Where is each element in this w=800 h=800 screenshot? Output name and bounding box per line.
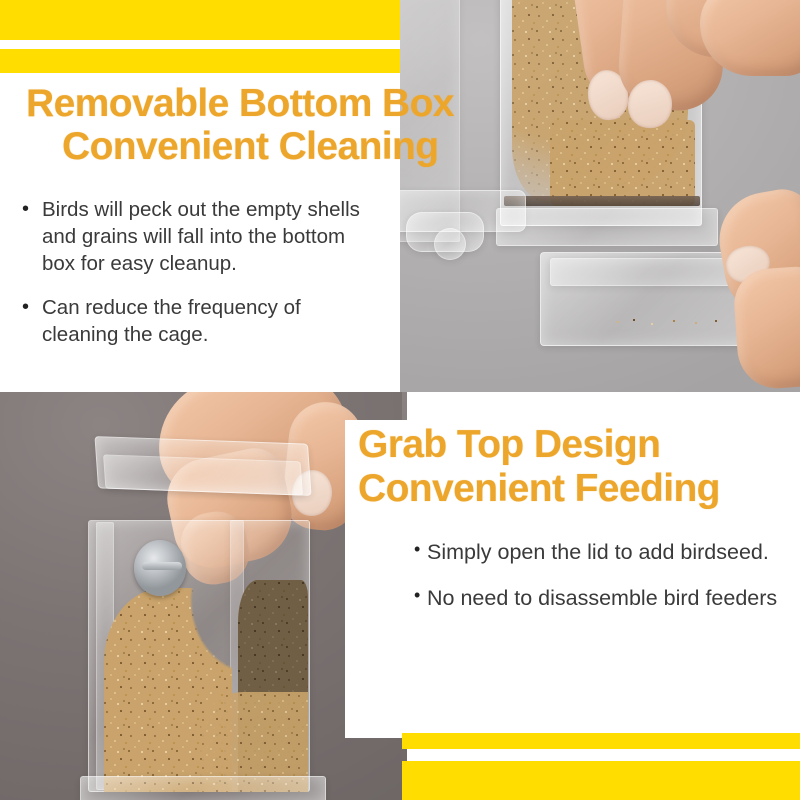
bullet-list-removable-bottom-box: • Birds will peck out the empty shells a… [22, 196, 382, 365]
headline-line-2: Convenient Feeding [358, 469, 800, 508]
list-item: • Can reduce the frequency of cleaning t… [22, 294, 382, 348]
birdseed-lower [550, 120, 695, 206]
bullet-list-grab-top-design: • Simply open the lid to add birdseed. •… [414, 538, 794, 629]
headline-line-1: Removable Bottom Box [26, 82, 454, 125]
feeder-base-tray [80, 776, 326, 800]
accent-stripe-top-thin [0, 49, 400, 73]
infographic-canvas: Removable Bottom Box Convenient Cleaning… [0, 0, 800, 800]
feeder-base-rail [504, 196, 700, 206]
feeder-shelf [496, 208, 718, 246]
list-item-text: No need to disassemble bird feeders [427, 584, 794, 613]
hand-right-palm [732, 265, 800, 391]
list-item-text: Simply open the lid to add birdseed. [427, 538, 794, 567]
product-photo-removable-bottom-box [400, 0, 800, 392]
headline-grab-top-design: Grab Top Design Convenient Feeding [358, 425, 800, 508]
loose-seeds-in-box [612, 316, 732, 330]
accent-stripe-bottom-thick [402, 761, 800, 800]
list-item: • Simply open the lid to add birdseed. [414, 538, 794, 567]
screw-shaft [142, 562, 182, 570]
headline-line-1: Grab Top Design [358, 425, 800, 464]
product-photo-grab-top-lid [0, 392, 402, 800]
bullet-dot-icon: • [22, 196, 42, 277]
accent-stripe-top-thick [0, 0, 400, 40]
bullet-dot-icon: • [414, 584, 427, 613]
list-item-text: Birds will peck out the empty shells and… [42, 196, 382, 277]
bullet-dot-icon: • [22, 294, 42, 348]
headline-line-2: Convenient Cleaning [62, 127, 546, 166]
list-item-text: Can reduce the frequency of cleaning the… [42, 294, 382, 348]
headline-removable-bottom-box: Removable Bottom Box Convenient Cleaning [26, 84, 546, 166]
feeder-lid-lip [103, 454, 303, 495]
feeder-mount-ring [434, 228, 466, 260]
list-item: • Birds will peck out the empty shells a… [22, 196, 382, 277]
accent-stripe-bottom-thin [402, 733, 800, 749]
bullet-dot-icon: • [414, 538, 427, 567]
list-item: • No need to disassemble bird feeders [414, 584, 794, 613]
